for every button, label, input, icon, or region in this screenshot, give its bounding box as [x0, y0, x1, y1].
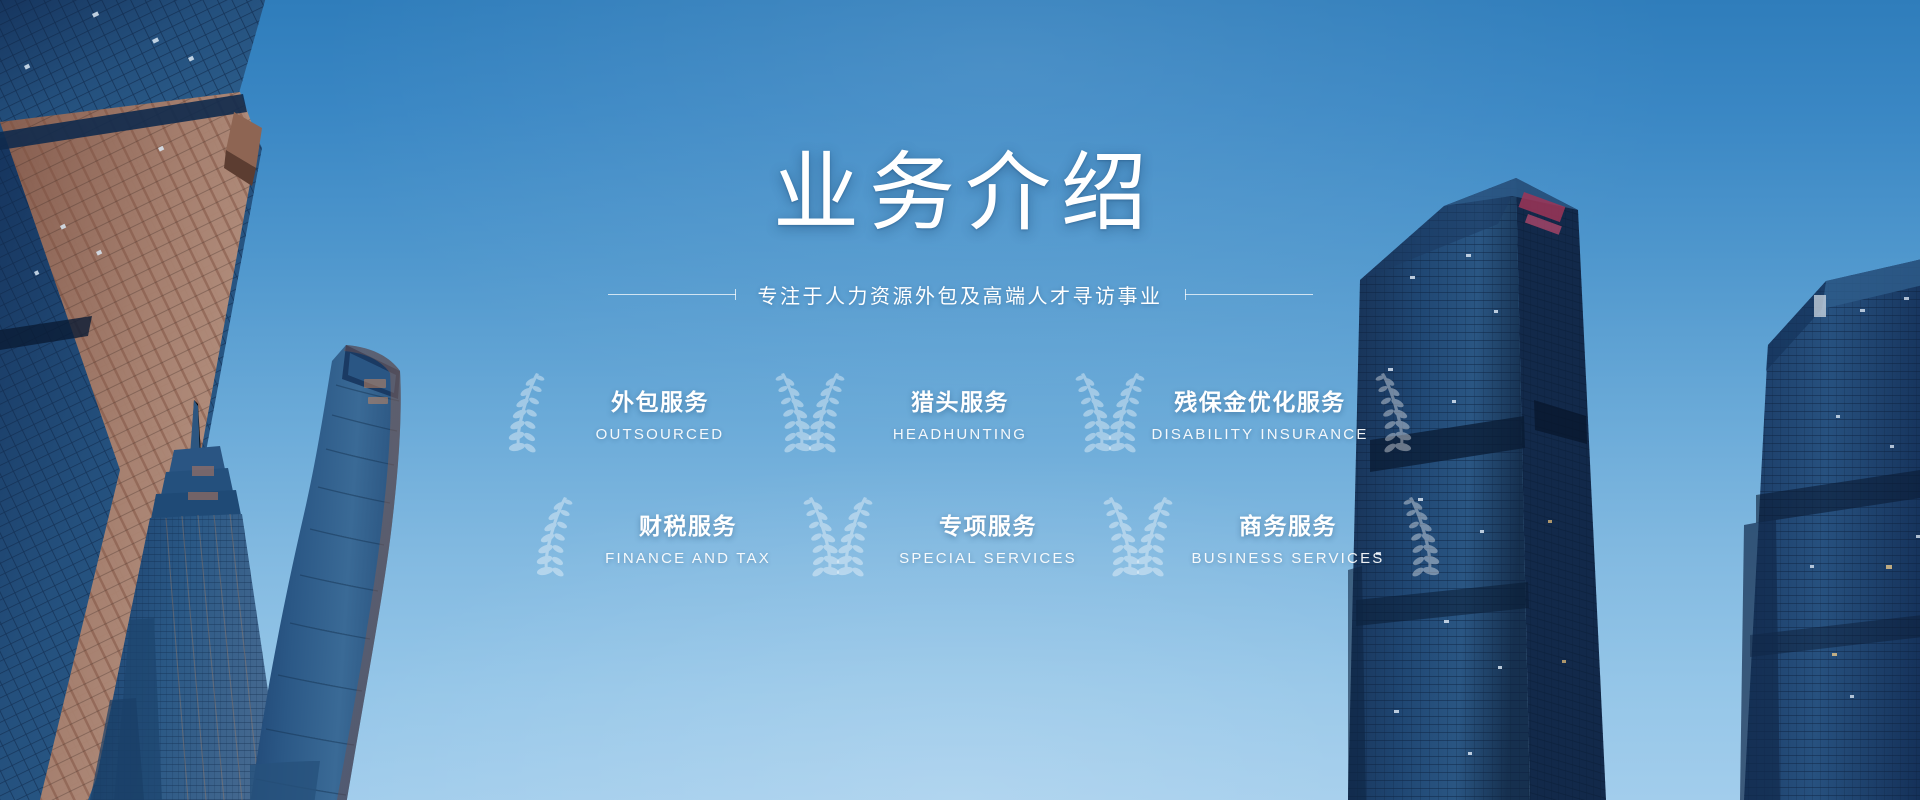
laurel-wreath-icon: [1134, 491, 1180, 583]
divider-left-icon: [608, 294, 736, 295]
hero-content: 业务介绍 专注于人力资源外包及高端人才寻访事业: [0, 0, 1920, 800]
service-title-cn: 外包服务: [611, 383, 709, 417]
service-title-cn: 财税服务: [639, 507, 737, 541]
service-title-cn: 商务服务: [1239, 507, 1337, 541]
service-title-en: SPECIAL SERVICES: [899, 550, 1077, 567]
service-title-en: DISABILITY INSURANCE: [1151, 426, 1368, 443]
laurel-wreath-icon: [1368, 367, 1414, 459]
service-title-cn: 残保金优化服务: [1174, 383, 1346, 417]
service-title-cn: 猎头服务: [911, 383, 1009, 417]
laurel-wreath-icon: [834, 491, 880, 583]
service-item-outsourced[interactable]: 外包服务 OUTSOURCED: [510, 361, 810, 465]
service-title-en: BUSINESS SERVICES: [1191, 550, 1384, 567]
hero-banner: 业务介绍 专注于人力资源外包及高端人才寻访事业: [0, 0, 1920, 800]
service-item-special-services[interactable]: 专项服务 SPECIAL SERVICES: [838, 485, 1138, 589]
laurel-wreath-icon: [1396, 491, 1442, 583]
divider-right-icon: [1185, 294, 1313, 295]
page-title: 业务介绍: [773, 150, 1157, 236]
laurel-wreath-icon: [1106, 367, 1152, 459]
laurel-wreath-icon: [534, 491, 580, 583]
service-title-en: HEADHUNTING: [893, 426, 1027, 443]
laurel-wreath-icon: [806, 367, 852, 459]
subtitle-row: 专注于人力资源外包及高端人才寻访事业: [608, 280, 1313, 309]
service-title-cn: 专项服务: [939, 507, 1037, 541]
service-item-business-services[interactable]: 商务服务 BUSINESS SERVICES: [1138, 485, 1438, 589]
laurel-wreath-icon: [506, 367, 552, 459]
service-title-en: OUTSOURCED: [596, 426, 725, 443]
service-item-headhunting[interactable]: 猎头服务 HEADHUNTING: [810, 361, 1110, 465]
service-item-finance-and-tax[interactable]: 财税服务 FINANCE AND TAX: [538, 485, 838, 589]
services-grid: 外包服务 OUTSOURCED: [510, 361, 1410, 589]
service-title-en: FINANCE AND TAX: [605, 550, 771, 567]
page-subtitle: 专注于人力资源外包及高端人才寻访事业: [758, 280, 1163, 309]
service-item-disability-insurance[interactable]: 残保金优化服务 DISABILITY INSURANCE: [1110, 361, 1410, 465]
